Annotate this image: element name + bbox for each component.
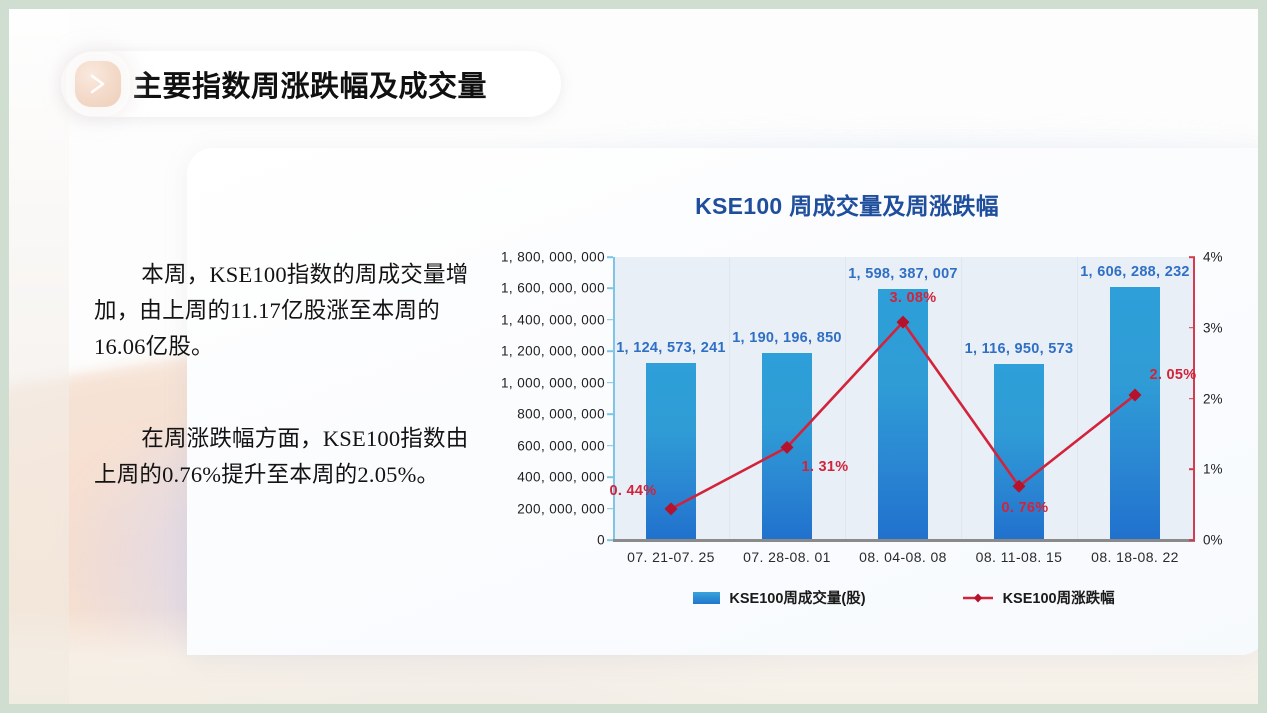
narrative-paragraph-2-text: 在周涨跌幅方面，KSE100指数由上周的0.76%提升至本周的2.05%。 <box>94 426 468 487</box>
legend-line-diamond-icon <box>962 592 994 604</box>
narrative-paragraph-1-text: 本周，KSE100指数的周成交量增加，由上周的11.17亿股涨至本周的16.06… <box>94 262 468 359</box>
legend-label-change: KSE100周涨跌幅 <box>1003 587 1115 608</box>
slide-root: 主要指数周涨跌幅及成交量 本周，KSE100指数的周成交量增加，由上周的11.1… <box>0 0 1267 713</box>
legend-label-volume: KSE100周成交量(股) <box>729 587 865 608</box>
page-title: 主要指数周涨跌幅及成交量 <box>133 63 487 105</box>
narrative-paragraph-2: 在周涨跌幅方面，KSE100指数由上周的0.76%提升至本周的2.05%。 <box>94 421 469 493</box>
line-series-overlay <box>487 179 1257 629</box>
chart: KSE100 周成交量及周涨跌幅 0200, 000, 000400, 000,… <box>487 179 1257 629</box>
legend-item-change[interactable]: KSE100周涨跌幅 <box>962 587 1115 608</box>
header-pill: 主要指数周涨跌幅及成交量 <box>61 51 561 117</box>
chart-legend: KSE100周成交量(股) KSE100周涨跌幅 <box>613 587 1195 608</box>
line-series-path <box>671 322 1135 509</box>
chevron-right-icon <box>75 61 121 107</box>
background-left-edge <box>9 9 69 704</box>
legend-item-volume[interactable]: KSE100周成交量(股) <box>693 587 865 608</box>
slide-canvas: 主要指数周涨跌幅及成交量 本周，KSE100指数的周成交量增加，由上周的11.1… <box>9 9 1258 704</box>
narrative-paragraph-1: 本周，KSE100指数的周成交量增加，由上周的11.17亿股涨至本周的16.06… <box>94 257 469 365</box>
narrative-text: 本周，KSE100指数的周成交量增加，由上周的11.17亿股涨至本周的16.06… <box>94 257 469 493</box>
legend-bar-swatch-icon <box>693 592 720 604</box>
line-data-point[interactable] <box>665 502 678 515</box>
